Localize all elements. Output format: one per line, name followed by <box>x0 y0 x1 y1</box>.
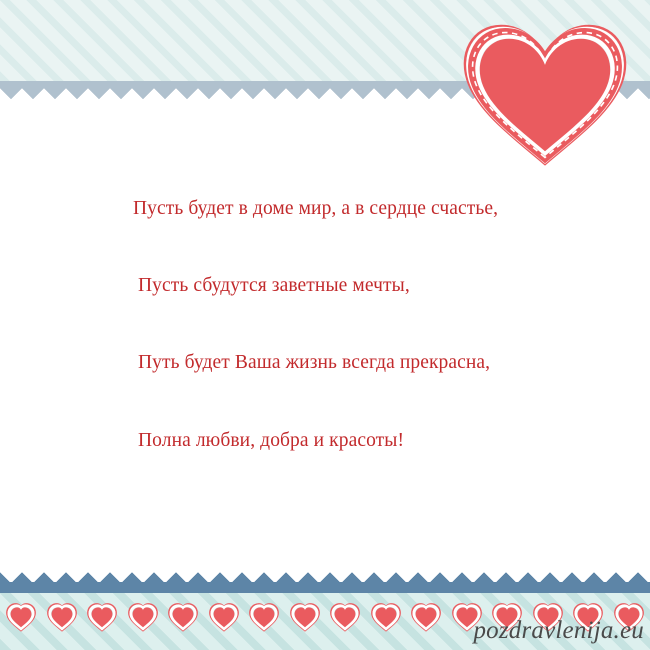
message-line: Полна любви, добра и красоты! <box>133 428 523 454</box>
message-line: Пусть сбудутся заветные мечты, <box>133 273 523 299</box>
message-line: Пусть будет в доме мир, а в сердце счаст… <box>133 196 523 222</box>
message-line: Путь будет Ваша жизнь всегда прекрасна, <box>133 350 523 376</box>
card-message: Пусть будет в доме мир, а в сердце счаст… <box>133 144 523 505</box>
watermark: pozdravlenija.eu <box>473 617 644 645</box>
bottom-blue-band <box>0 582 650 593</box>
greeting-card: Пусть будет в доме мир, а в сердце счаст… <box>0 0 650 650</box>
